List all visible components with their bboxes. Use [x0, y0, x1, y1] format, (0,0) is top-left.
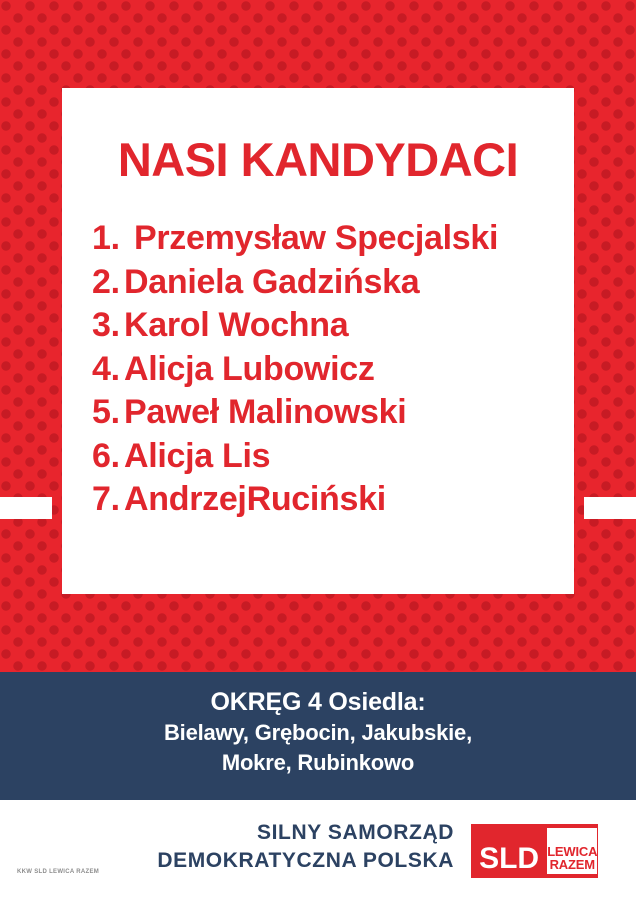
candidate-number: 6. — [92, 435, 124, 479]
candidate-name: Przemysław Specjalski — [124, 217, 498, 261]
candidates-card: NASI KANDYDACI 1. Przemysław Specjalski … — [62, 88, 574, 594]
right-edge-notch — [584, 497, 636, 519]
candidate-name: Paweł Malinowski — [124, 391, 406, 435]
logo-lewica-text: LEWICA — [547, 845, 597, 858]
campaign-poster: NASI KANDYDACI 1. Przemysław Specjalski … — [0, 0, 636, 900]
candidate-name: Daniela Gadzińska — [124, 261, 419, 305]
logo-razem-text: RAZEM — [550, 858, 595, 871]
logo-lewica-razem-box: LEWICA RAZEM — [547, 828, 597, 874]
list-item: 5. Paweł Malinowski — [92, 391, 574, 435]
candidate-name: Karol Wochna — [124, 304, 348, 348]
district-neighbourhoods-line-2: Mokre, Rubinkowo — [0, 748, 636, 779]
candidate-name: AndrzejRuciński — [124, 478, 386, 522]
left-edge-notch — [0, 497, 52, 519]
candidate-number: 1. — [92, 217, 124, 261]
list-item: 1. Przemysław Specjalski — [92, 217, 574, 261]
slogan-line-1: SILNY SAMORZĄD — [157, 819, 454, 847]
candidate-name: Alicja Lis — [124, 435, 270, 479]
candidate-number: 3. — [92, 304, 124, 348]
district-band: OKRĘG 4 Osiedla: Bielawy, Grębocin, Jaku… — [0, 672, 636, 800]
candidate-list: 1. Przemysław Specjalski 2. Daniela Gadz… — [62, 183, 574, 522]
sld-logo: SLD LEWICA RAZEM — [471, 824, 598, 878]
committee-disclaimer: KKW SLD LEWICA RAZEM — [17, 869, 99, 875]
candidate-number: 4. — [92, 348, 124, 392]
list-item: 2. Daniela Gadzińska — [92, 261, 574, 305]
candidate-number: 5. — [92, 391, 124, 435]
candidate-number: 7. — [92, 478, 124, 522]
list-item: 6. Alicja Lis — [92, 435, 574, 479]
list-item: 4. Alicja Lubowicz — [92, 348, 574, 392]
district-heading: OKRĘG 4 Osiedla: — [0, 672, 636, 718]
list-item: 7. AndrzejRuciński — [92, 478, 574, 522]
logo-sld-text: SLD — [471, 824, 547, 878]
slogan-line-2: DEMOKRATYCZNA POLSKA — [157, 847, 454, 875]
district-neighbourhoods-line-1: Bielawy, Grębocin, Jakubskie, — [0, 718, 636, 749]
slogan: SILNY SAMORZĄD DEMOKRATYCZNA POLSKA — [157, 819, 454, 874]
candidate-name: Alicja Lubowicz — [124, 348, 375, 392]
page-title: NASI KANDYDACI — [62, 88, 574, 183]
list-item: 3. Karol Wochna — [92, 304, 574, 348]
candidate-number: 2. — [92, 261, 124, 305]
